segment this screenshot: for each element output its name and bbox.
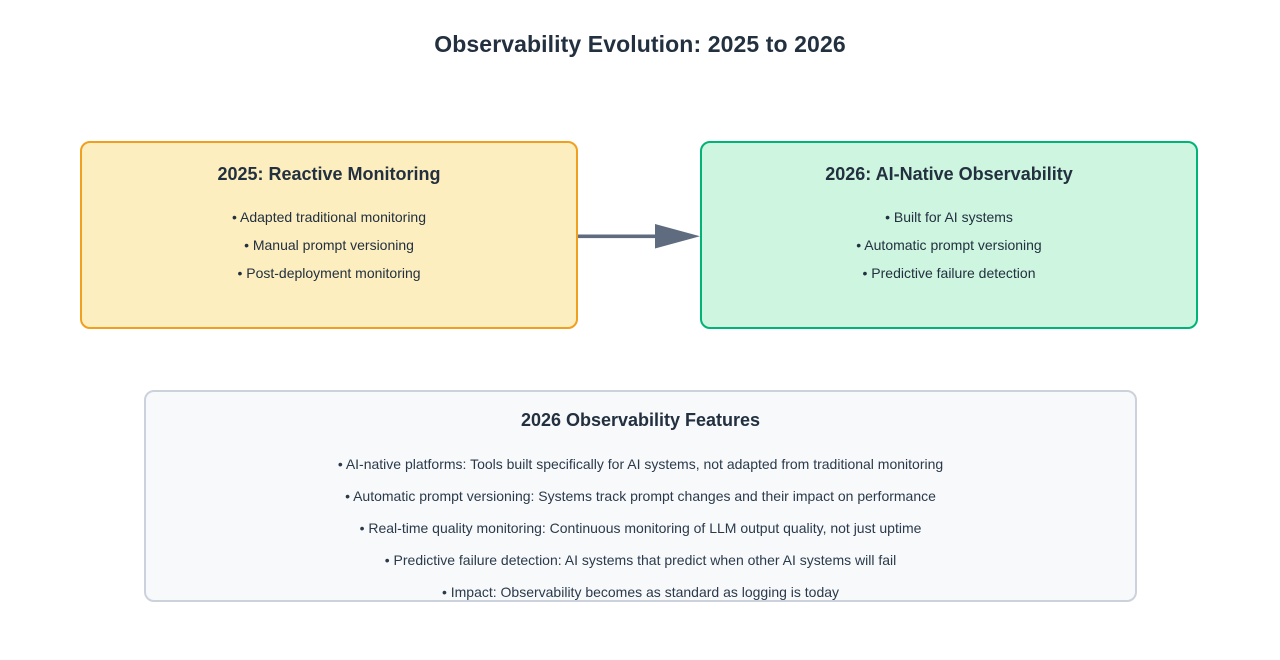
stage-heading-2026: 2026: AI-Native Observability xyxy=(702,164,1196,186)
stage-heading-2025: 2025: Reactive Monitoring xyxy=(82,164,576,186)
stage-bullet: • Predictive failure detection xyxy=(702,259,1196,287)
features-panel: 2026 Observability Features • AI-native … xyxy=(144,390,1137,602)
stage-bullet: • Automatic prompt versioning xyxy=(702,231,1196,259)
stage-bullet-list-2025: • Adapted traditional monitoring • Manua… xyxy=(82,203,576,287)
transition-arrow-icon xyxy=(578,214,702,258)
stage-bullet: • Manual prompt versioning xyxy=(82,231,576,259)
feature-item: • Automatic prompt versioning: Systems t… xyxy=(146,480,1135,512)
stage-bullet-list-2026: • Built for AI systems • Automatic promp… xyxy=(702,203,1196,287)
features-list: • AI-native platforms: Tools built speci… xyxy=(146,448,1135,608)
feature-item: • Real-time quality monitoring: Continuo… xyxy=(146,512,1135,544)
stage-box-2026: 2026: AI-Native Observability • Built fo… xyxy=(700,141,1198,329)
stage-bullet: • Adapted traditional monitoring xyxy=(82,203,576,231)
feature-item: • AI-native platforms: Tools built speci… xyxy=(146,448,1135,480)
feature-item: • Impact: Observability becomes as stand… xyxy=(146,576,1135,608)
stage-box-2025: 2025: Reactive Monitoring • Adapted trad… xyxy=(80,141,578,329)
stage-bullet: • Post-deployment monitoring xyxy=(82,259,576,287)
page-title: Observability Evolution: 2025 to 2026 xyxy=(0,31,1280,58)
features-panel-heading: 2026 Observability Features xyxy=(146,410,1135,432)
stage-bullet: • Built for AI systems xyxy=(702,203,1196,231)
feature-item: • Predictive failure detection: AI syste… xyxy=(146,544,1135,576)
